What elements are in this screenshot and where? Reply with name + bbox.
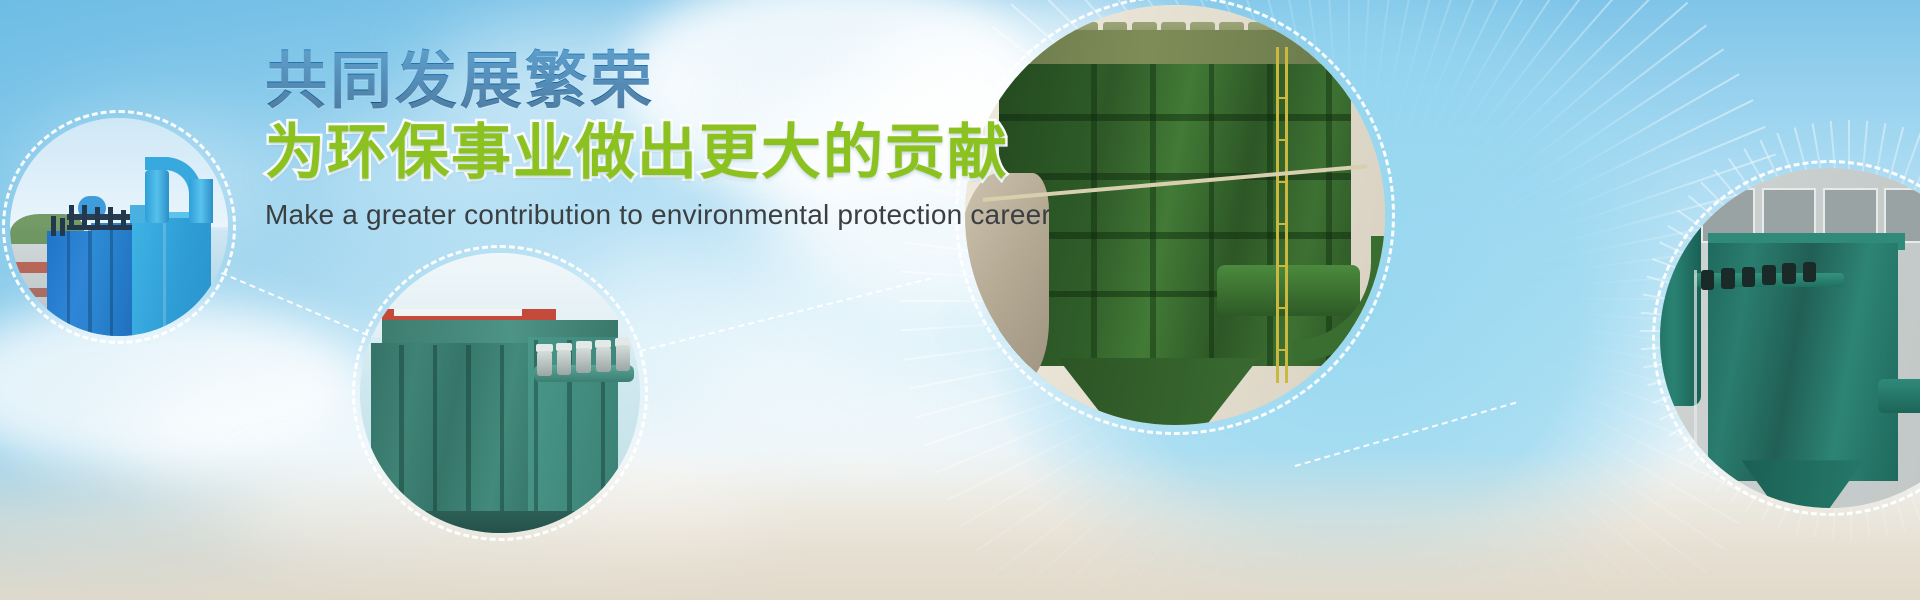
headline-secondary: 为环保事业做出更大的贡献: [265, 118, 1165, 188]
headline-primary: 共同发展繁荣: [265, 48, 1165, 114]
green-dust-collector-illustration: [360, 253, 640, 533]
teal-dust-collector-illustration: [1660, 168, 1920, 508]
hero-banner: 共同发展繁荣 为环保事业做出更大的贡献 Make a greater contr…: [0, 0, 1920, 600]
subtitle-english: Make a greater contribution to environme…: [265, 198, 1165, 232]
photo-green-dust-collector: [360, 253, 640, 533]
ground-haze: [0, 450, 1920, 600]
banner-text-block: 共同发展繁荣 为环保事业做出更大的贡献 Make a greater contr…: [265, 48, 1165, 232]
photo-teal-dust-collector: [1660, 168, 1920, 508]
photo-blue-dust-collector: [10, 118, 228, 336]
blue-dust-collector-illustration: [10, 118, 228, 336]
